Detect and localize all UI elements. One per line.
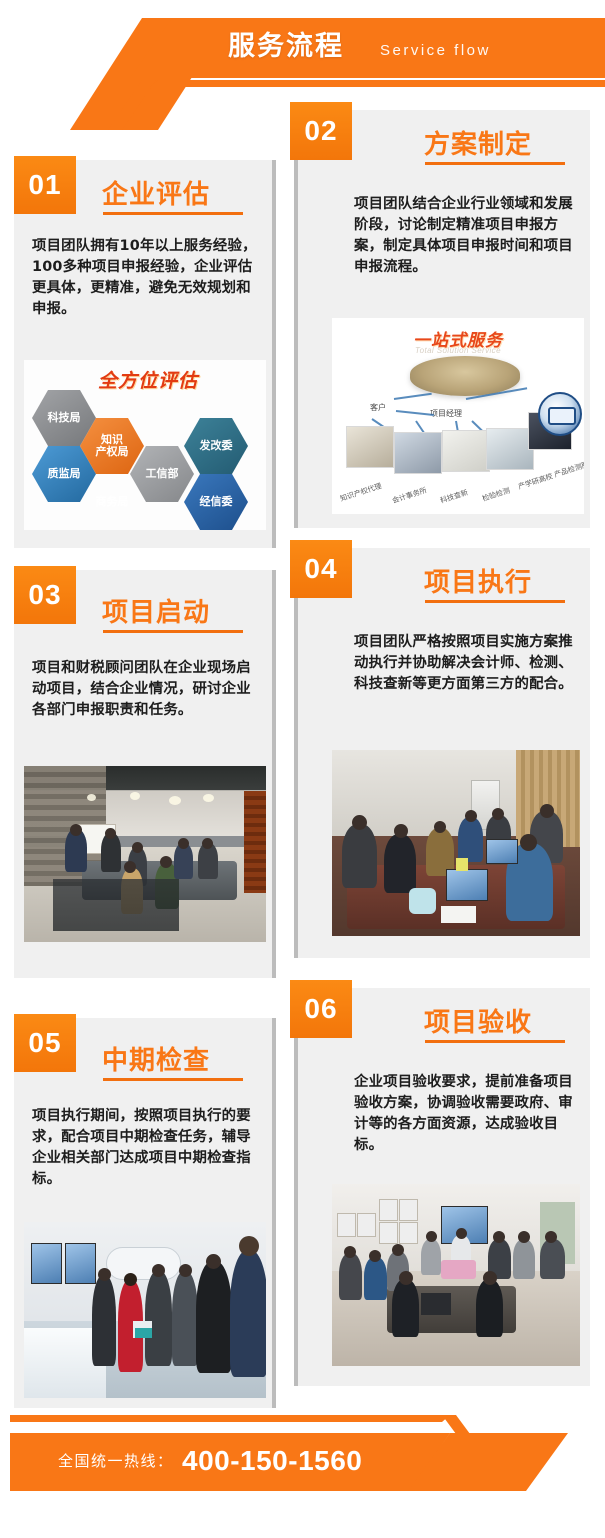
card-number-badge-01: 01 — [14, 156, 76, 214]
card-body-01: 项目团队拥有10年以上服务经验，100多种项目申报经验，企业评估更具体，更精准，… — [32, 236, 260, 320]
working-meeting-photo — [332, 750, 580, 936]
card-title-03: 项目启动 — [102, 592, 210, 629]
card-edge-bar — [294, 548, 298, 958]
onestop-service-label-4: 检验检测 — [481, 486, 511, 504]
step-card-03: 项目启动 项目和财税顾问团队在企业现场启动项目，结合企业情况，研讨企业各部门申报… — [14, 570, 276, 978]
hotline-label: 全国统一热线： — [58, 1449, 174, 1475]
onestop-service-label-5: 产学研高校 — [517, 471, 554, 492]
card-number-badge-06: 06 — [290, 980, 352, 1038]
card-title-06: 项目验收 — [424, 1002, 532, 1039]
card-edge-bar — [272, 570, 276, 978]
step-card-02: 02 方案制定 项目团队结合企业行业领域和发展阶段，讨论制定精准项目申报方案，制… — [294, 110, 590, 528]
header-underline — [150, 80, 605, 87]
onestop-service-label-2: 会计事务所 — [391, 485, 428, 506]
card-title-01: 企业评估 — [102, 174, 210, 211]
onestop-certification-seal — [538, 392, 582, 436]
hexagon-assessment-figure: 全方位评估 科技局 质监局 知识 产权局 商务局 工信部 发改委 经信委 — [24, 360, 266, 530]
card-title-rule-02 — [425, 162, 565, 165]
card-title-05: 中期检查 — [102, 1040, 210, 1077]
step-card-01: 企业评估 项目团队拥有10年以上服务经验，100多种项目申报经验，企业评估更具体… — [14, 160, 276, 548]
step-card-04: 04 项目执行 项目团队严格按照项目实施方案推动执行并协助解决会计师、检测、科技… — [294, 548, 590, 958]
page-title: 服务流程 — [228, 24, 344, 68]
photo-scene — [24, 766, 266, 942]
card-number-badge-03: 03 — [14, 566, 76, 624]
site-visit-photo — [24, 1222, 266, 1398]
hotline-number[interactable]: 400-150-1560 — [182, 1442, 362, 1480]
onestop-arrow — [394, 393, 432, 400]
page-footer: 全国统一热线： 400-150-1560 — [0, 1415, 605, 1525]
onestop-client-label: 客户 — [370, 402, 386, 413]
conference-room-photo — [24, 766, 266, 942]
onestop-arrow — [396, 410, 434, 416]
header-banner — [130, 18, 605, 78]
card-title-rule-05 — [103, 1078, 243, 1081]
footer-overline — [10, 1415, 450, 1422]
card-title-rule-04 — [425, 600, 565, 603]
card-edge-bar — [294, 988, 298, 1386]
card-body-03: 项目和财税顾问团队在企业现场启动项目，结合企业情况，研讨企业各部门申报职责和任务… — [32, 658, 260, 721]
card-number-badge-05: 05 — [14, 1014, 76, 1072]
page-subtitle: Service flow — [380, 34, 491, 68]
card-title-rule-06 — [425, 1040, 565, 1043]
one-stop-service-figure: 一站式服务 Total Solution Service 客户 项目经理 知识产… — [332, 318, 584, 514]
step-card-05: 中期检查 项目执行期间，按照项目执行的要求，配合项目中期检查任务，辅导企业相关部… — [14, 1018, 276, 1408]
onestop-tile-novelty — [442, 430, 490, 472]
hex-node-fagai-wei: 发改委 — [184, 418, 248, 474]
card-title-rule-03 — [103, 630, 243, 633]
photo-scene — [24, 1222, 266, 1398]
onestop-tile-testing — [486, 428, 534, 470]
step-card-06: 06 项目验收 企业项目验收要求，提前准备项目验收方案，协调验收需要政府、审计等… — [294, 988, 590, 1386]
onestop-service-label-3: 科技查新 — [439, 488, 469, 506]
card-title-02: 方案制定 — [424, 124, 532, 161]
card-edge-bar — [294, 110, 298, 528]
card-number-badge-04: 04 — [290, 540, 352, 598]
card-title-04: 项目执行 — [424, 562, 532, 599]
card-number-badge-02: 02 — [290, 102, 352, 160]
service-flow-poster: 服务流程 Service flow 企业评估 项目团队拥有10年以上服务经验，1… — [0, 0, 605, 1538]
onestop-tile-ip — [346, 426, 394, 468]
photo-scene — [332, 750, 580, 936]
hexagon-caption: 全方位评估 — [98, 366, 198, 393]
card-edge-bar — [272, 160, 276, 548]
card-body-02: 项目团队结合企业行业领域和发展阶段，讨论制定精准项目申报方案，制定具体项目申报时… — [354, 194, 576, 278]
card-body-06: 企业项目验收要求，提前准备项目验收方案，协调验收需要政府、审计等的各方面资源，达… — [354, 1072, 576, 1156]
hex-node-gongxin-bu: 工信部 — [130, 446, 194, 502]
card-body-05: 项目执行期间，按照项目执行的要求，配合项目中期检查任务，辅导企业相关部门达成项目… — [32, 1106, 260, 1190]
card-body-04: 项目团队严格按照项目实施方案推动执行并协助解决会计师、检测、科技查新等更方面第三… — [354, 632, 576, 695]
onestop-service-label-6: 产品检测服务 — [553, 457, 584, 480]
card-title-rule-01 — [103, 212, 243, 215]
onestop-subtitle: Total Solution Service — [332, 346, 584, 355]
onestop-center-label: 项目经理 — [430, 408, 462, 419]
hex-node-jingxin-wei: 经信委 — [184, 474, 248, 530]
onestop-hub-photo — [410, 356, 520, 396]
photo-scene — [332, 1184, 580, 1366]
onestop-tile-accounting — [394, 432, 442, 474]
onestop-service-label-1: 知识产权代理 — [339, 481, 383, 504]
card-edge-bar — [272, 1018, 276, 1408]
acceptance-meeting-photo — [332, 1184, 580, 1366]
